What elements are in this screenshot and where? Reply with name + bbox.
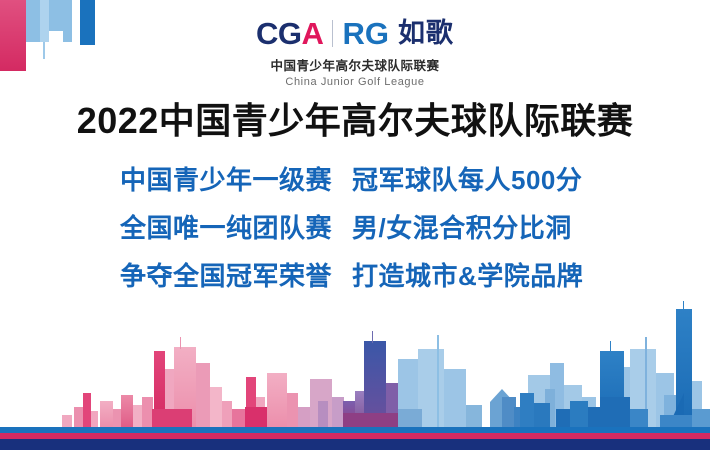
logo-subtitle-en: China Junior Golf League [0,76,710,88]
logo-wordmark-row: CGA RG 如歌 [0,16,710,50]
skyline-svg [0,297,710,427]
logo-lockup: CGA RG 如歌 中国青少年高尔夫球队际联赛 China Junior Gol… [0,16,710,88]
cga-accent-letter: A [302,16,324,51]
feature-text-right: 男/女混合积分比洞 [352,208,590,245]
rugo-wordmark: 如歌 [398,20,454,47]
feature-list: 中国青少年一级赛 冠军球队每人500分 全国唯一纯团队赛 男/女混合积分比洞 争… [0,160,710,304]
poster-canvas: CGA RG 如歌 中国青少年高尔夫球队际联赛 China Junior Gol… [0,0,710,450]
logo-divider [332,20,333,47]
footer-band-navy [0,439,710,450]
page-title: 2022中国青少年高尔夫球队际联赛 [0,92,710,144]
feature-text-right: 冠军球队每人500分 [352,160,590,197]
cga-main-letters: CG [256,16,302,51]
city-skyline-illustration [0,297,710,427]
feature-text-left: 全国唯一纯团队赛 [120,208,352,245]
feature-row: 中国青少年一级赛 冠军球队每人500分 [0,160,710,208]
feature-text-left: 争夺全国冠军荣誉 [120,256,352,293]
feature-row: 全国唯一纯团队赛 男/女混合积分比洞 [0,208,710,256]
feature-text-right: 打造城市&学院品牌 [352,256,590,293]
rg-wordmark: RG [342,18,389,49]
feature-text-left: 中国青少年一级赛 [120,160,352,197]
logo-subtitle-cn: 中国青少年高尔夫球队际联赛 [0,55,710,74]
cga-wordmark: CGA [256,18,323,49]
